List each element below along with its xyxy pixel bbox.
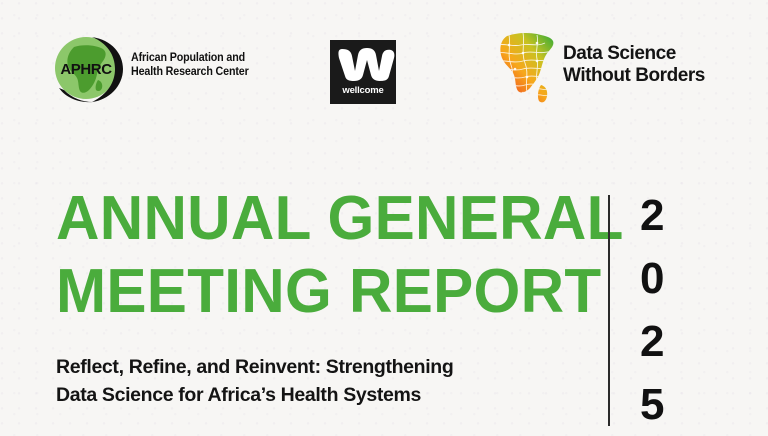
aphrc-name-lockup: African Population and Health Research C…: [131, 51, 257, 79]
subtitle-line-1: Reflect, Refine, and Reinvent: Strengthe…: [56, 354, 601, 382]
svg-text:APHRC: APHRC: [60, 61, 112, 78]
wellcome-w-icon: [330, 47, 396, 81]
report-cover-page: APHRC African Population and Health Rese…: [0, 0, 768, 436]
subtitle-line-2: Data Science for Africa’s Health Systems: [56, 382, 601, 410]
dswb-logo: [493, 31, 559, 105]
title-line-2: MEETING REPORT: [56, 261, 585, 322]
year-digit-1: 2: [640, 194, 686, 238]
dswb-name-line-2: Without Borders: [563, 65, 705, 87]
partner-logo-bar: APHRC African Population and Health Rese…: [0, 0, 768, 130]
hero-section: ANNUAL GENERAL MEETING REPORT Reflect, R…: [0, 150, 768, 436]
year-digit-2: 0: [640, 257, 686, 301]
page-title: ANNUAL GENERAL MEETING REPORT: [56, 188, 601, 323]
aphrc-name-line-2: Health Research Center: [131, 65, 249, 79]
dswb-name-lockup: Data Science Without Borders: [563, 43, 705, 88]
africa-circuit-map-icon: [493, 31, 559, 105]
vertical-divider: [608, 195, 610, 426]
aphrc-globe-africa-icon: APHRC: [52, 32, 124, 104]
page-subtitle: Reflect, Refine, and Reinvent: Strengthe…: [56, 354, 601, 409]
title-line-1: ANNUAL GENERAL: [56, 188, 585, 249]
wellcome-wordmark: wellcome: [330, 85, 396, 96]
wellcome-logo: wellcome: [330, 40, 396, 104]
year-digit-4: 5: [640, 383, 686, 427]
year-stack: 2 0 2 5: [640, 194, 686, 427]
year-digit-3: 2: [640, 320, 686, 364]
aphrc-logo: APHRC: [52, 32, 124, 104]
dswb-name-line-1: Data Science: [563, 43, 705, 65]
aphrc-name-line-1: African Population and: [131, 51, 249, 65]
